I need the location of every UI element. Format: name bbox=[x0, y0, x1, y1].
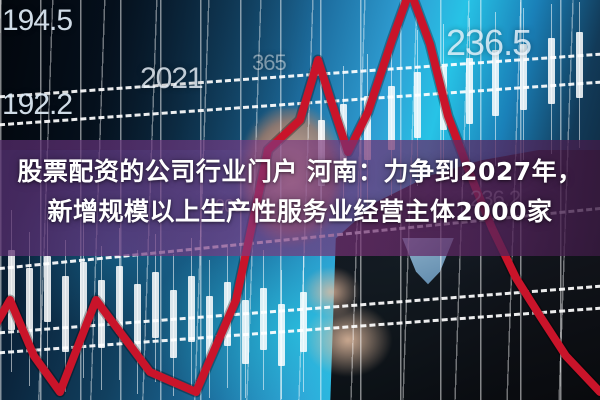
headline-line-2: 新增规模以上生产性服务业经营主体2000家 bbox=[8, 192, 592, 232]
chart-value-label: 365 bbox=[252, 50, 286, 76]
headline-line-1: 股票配资的公司行业门户 河南：力争到2027年， bbox=[8, 152, 592, 192]
chart-value-label: 2021 bbox=[140, 62, 203, 96]
chart-value-label: 194.5 bbox=[2, 4, 72, 38]
banner-image: 194.5192.22021236.53652009236.2 股票配资的公司行… bbox=[0, 0, 600, 400]
chart-value-label: 236.5 bbox=[446, 22, 531, 64]
chart-value-label: 192.2 bbox=[2, 88, 72, 122]
headline: 股票配资的公司行业门户 河南：力争到2027年， 新增规模以上生产性服务业经营主… bbox=[0, 152, 600, 232]
